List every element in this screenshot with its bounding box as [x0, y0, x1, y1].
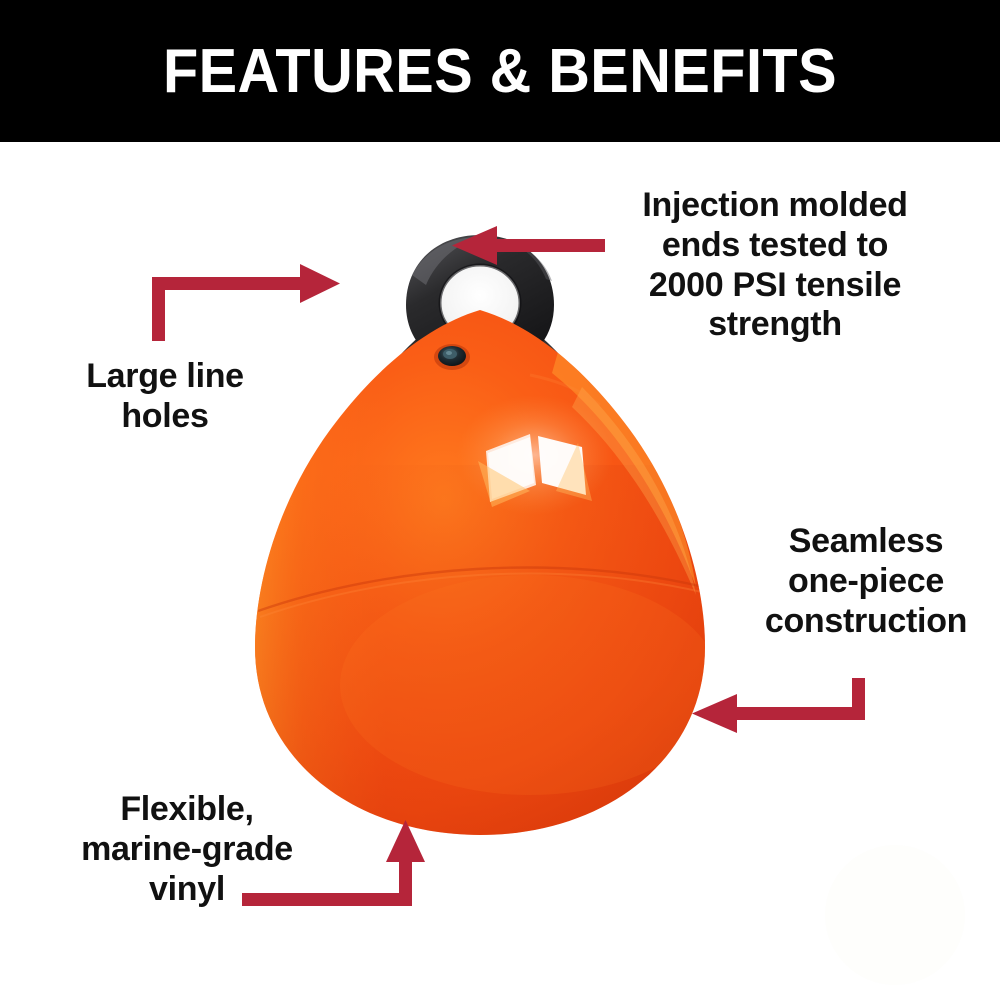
callout-large-line-holes: Large line holes	[35, 357, 295, 437]
callout-seamless-construction: Seamless one-piece construction	[735, 522, 997, 641]
inflation-valve	[434, 344, 470, 370]
callout-flexible-vinyl: Flexible, marine-grade vinyl	[28, 790, 346, 909]
callout-injection-molded: Injection molded ends tested to 2000 PSI…	[600, 186, 950, 345]
watermark-circle	[825, 845, 965, 985]
page-title: FEATURES & BENEFITS	[35, 0, 965, 142]
infographic-canvas: FEATURES & BENEFITS	[0, 0, 1000, 1000]
buoy-body-group	[230, 305, 730, 835]
